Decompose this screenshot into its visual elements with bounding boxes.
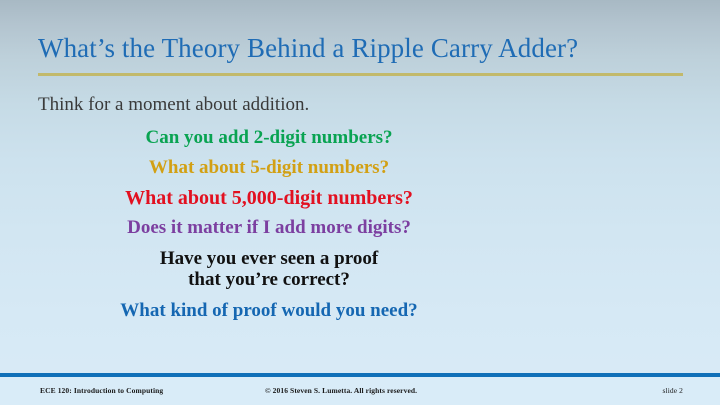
footer-course-label: ECE 120: Introduction to Computing bbox=[40, 386, 163, 395]
question-line-4: Does it matter if I add more digits? bbox=[38, 213, 500, 243]
footer-copyright-label: © 2016 Steven S. Lumetta. All rights res… bbox=[265, 386, 417, 395]
question-line-3: What about 5,000-digit numbers? bbox=[38, 183, 500, 213]
closing-question: What kind of proof would you need? bbox=[38, 296, 500, 326]
slide-canvas: What’s the Theory Behind a Ripple Carry … bbox=[0, 0, 720, 405]
title-divider-rule bbox=[38, 73, 683, 76]
footer-slide-number: slide 2 bbox=[663, 386, 684, 395]
title-block: What’s the Theory Behind a Ripple Carry … bbox=[38, 32, 686, 64]
intro-text: Think for a moment about addition. bbox=[38, 92, 500, 118]
footer: ECE 120: Introduction to Computing © 201… bbox=[0, 377, 720, 405]
question-line-1: Can you add 2-digit numbers? bbox=[38, 123, 500, 153]
page-title: What’s the Theory Behind a Ripple Carry … bbox=[38, 32, 686, 64]
body-content: Think for a moment about addition. Can y… bbox=[38, 92, 500, 326]
proof-statement-line-1: Have you ever seen a proof bbox=[38, 248, 500, 269]
proof-statement: Have you ever seen a proof that you’re c… bbox=[38, 248, 500, 290]
question-line-2: What about 5-digit numbers? bbox=[38, 153, 500, 183]
proof-statement-line-2: that you’re correct? bbox=[38, 269, 500, 290]
